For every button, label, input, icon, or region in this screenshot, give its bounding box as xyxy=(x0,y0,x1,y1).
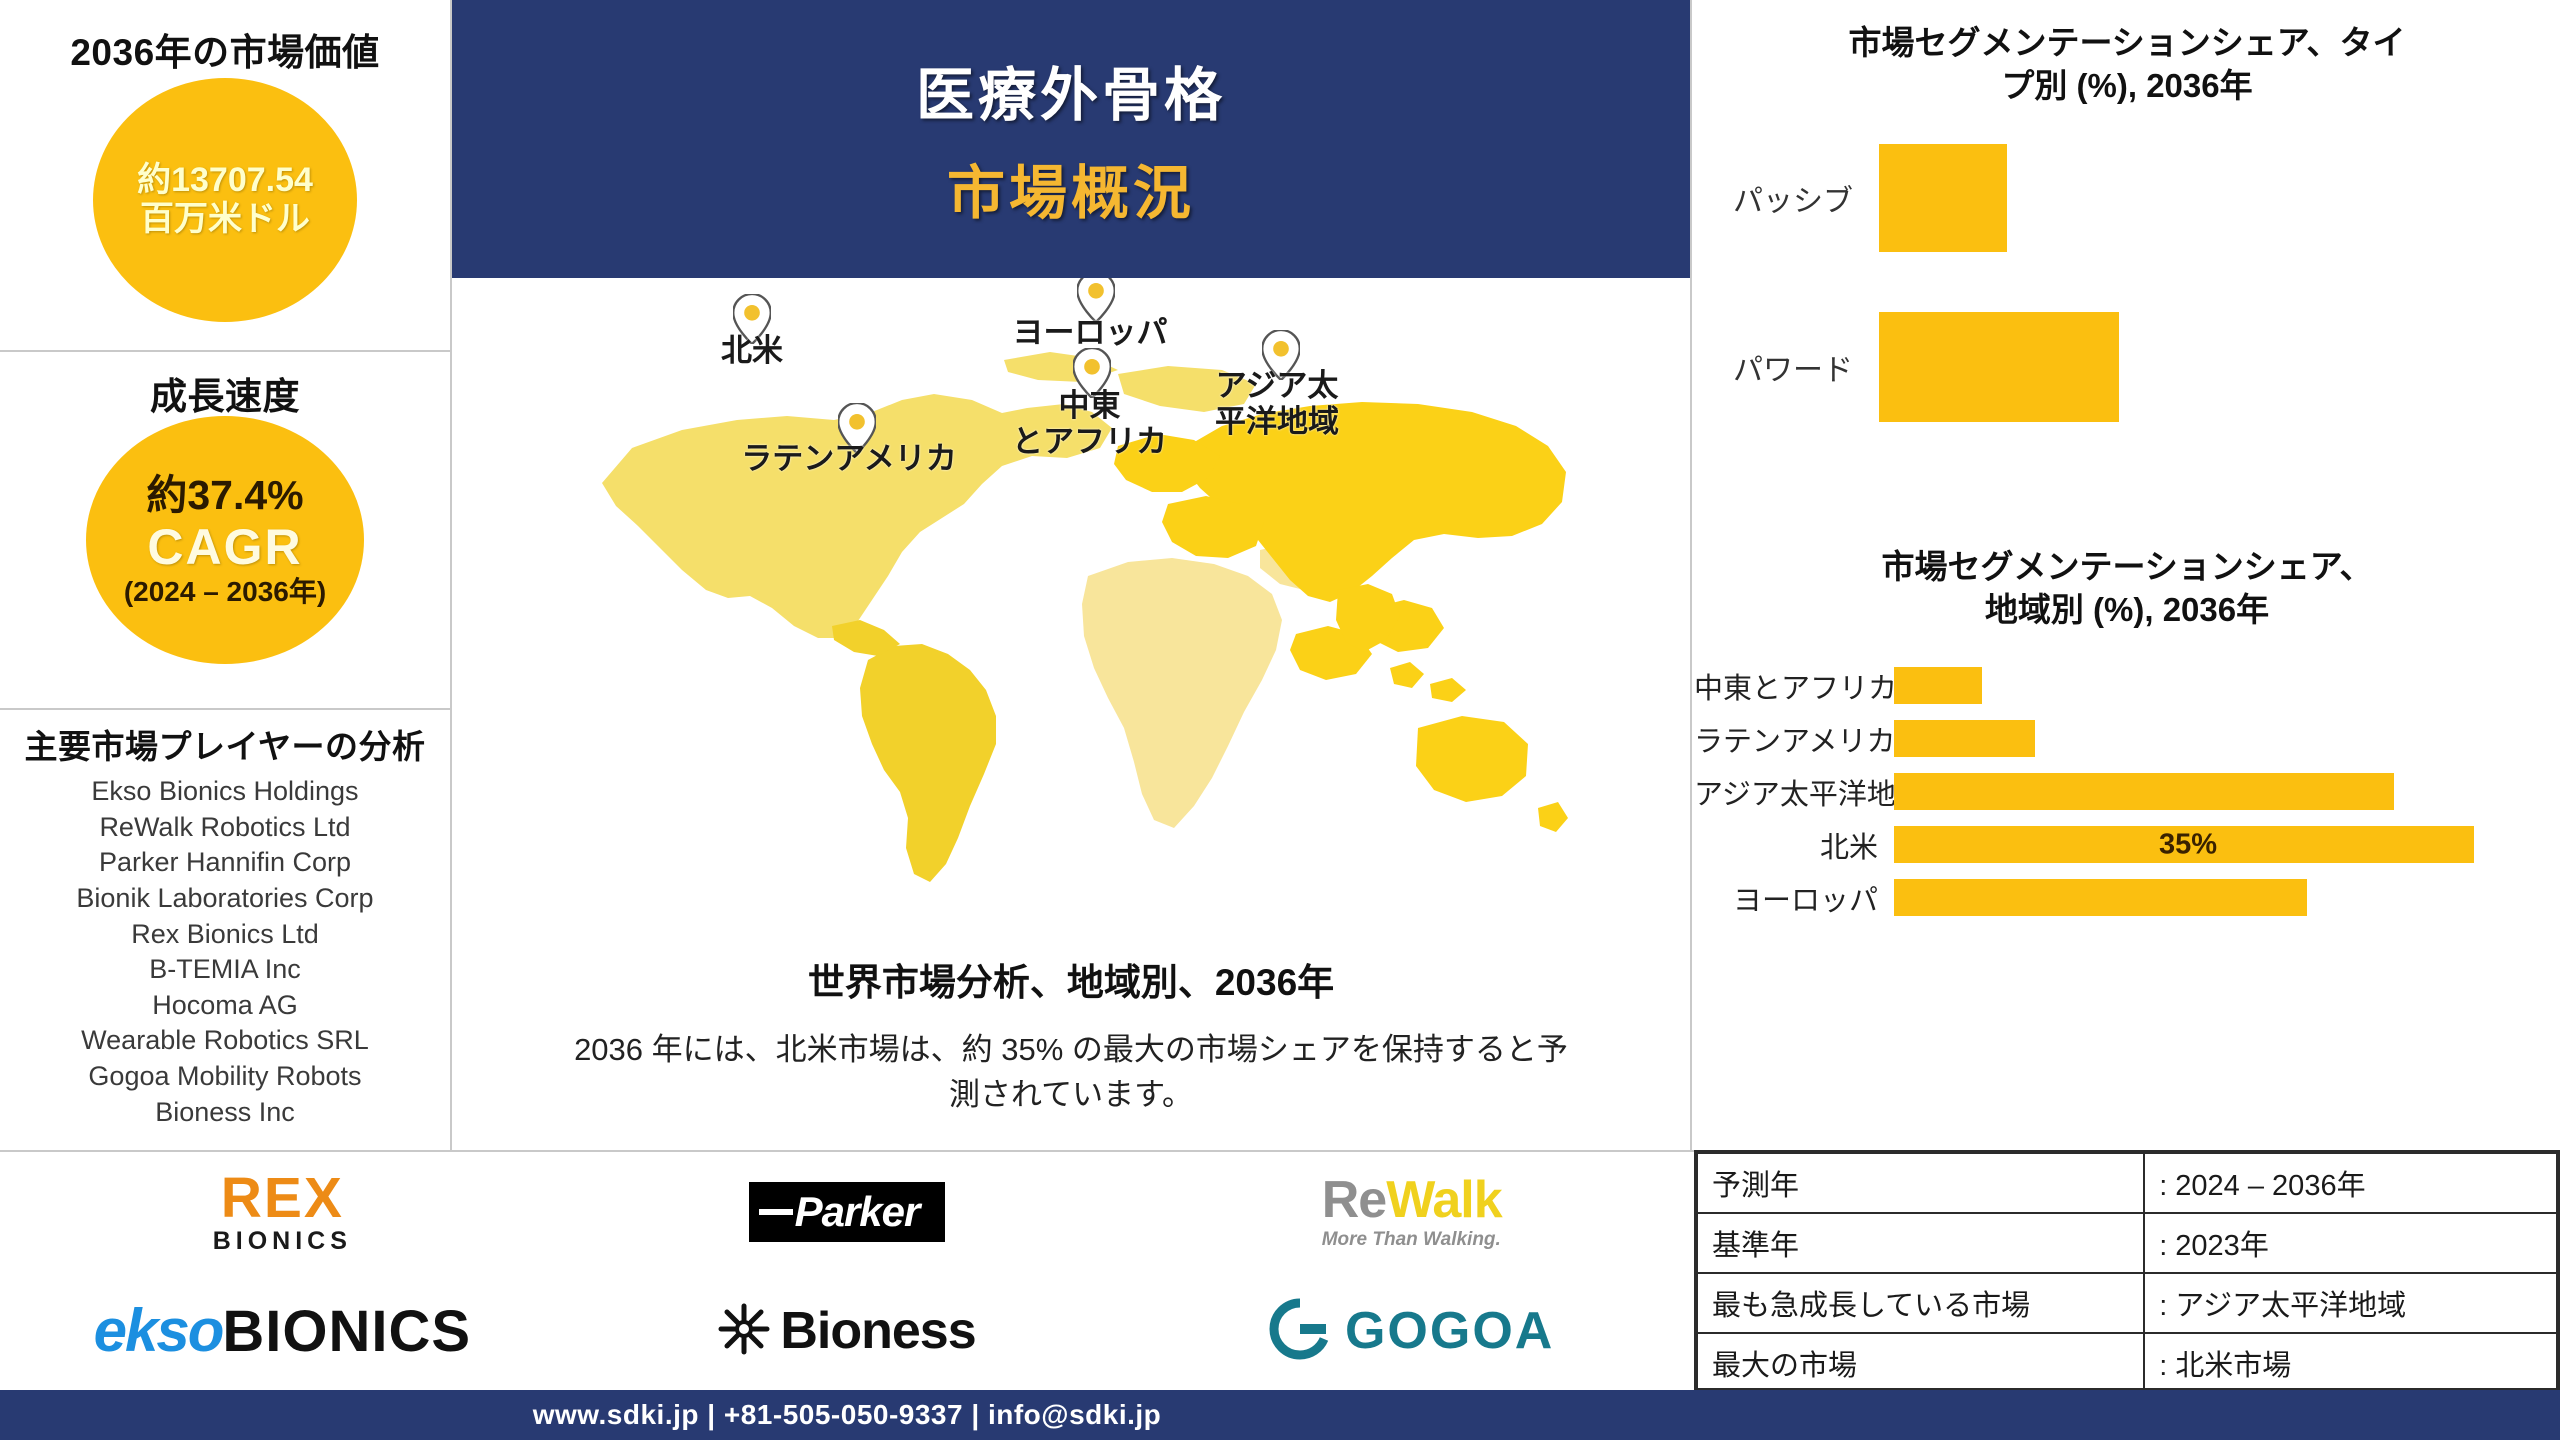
region-bar-namerica: 35% xyxy=(1894,826,2474,863)
left-sidebar: 2036年の市場価値 約13707.54 百万米ドル 成長速度 約37.4% C… xyxy=(0,0,452,1150)
chart-row: 中東とアフリカ xyxy=(1694,662,2560,710)
market-value-unit: 百万米ドル xyxy=(140,200,310,239)
key-players-list: Ekso Bionics Holdings ReWalk Robotics Lt… xyxy=(0,774,450,1130)
table-row: 最も急成長している市場 : アジア太平洋地域 xyxy=(1697,1273,2557,1333)
table-cell-key: 最も急成長している市場 xyxy=(1697,1273,2144,1333)
bioness-asterisk-icon xyxy=(718,1303,770,1359)
key-players-card: 主要市場プレイヤーの分析 Ekso Bionics Holdings ReWal… xyxy=(0,710,450,1148)
market-value-card: 2036年の市場価値 約13707.54 百万米ドル xyxy=(0,0,450,352)
bar-track xyxy=(1894,720,2560,757)
market-value-ellipse: 約13707.54 百万米ドル xyxy=(93,78,357,322)
type-label-powered: パワード xyxy=(1694,345,1879,389)
cagr-label: CAGR xyxy=(147,519,302,577)
table-cell-value: : 北米市場 xyxy=(2144,1333,2557,1393)
footer-bar-right xyxy=(1694,1390,2560,1440)
rex-logo-subtext: BIONICS xyxy=(213,1229,352,1254)
map-label-asia-pacific: アジア太 平洋地域 xyxy=(1202,368,1352,439)
rewalk-logo-walk: Walk xyxy=(1386,1171,1501,1229)
market-value-number: 約13707.54 xyxy=(137,161,313,200)
region-label-mea: 中東とアフリカ xyxy=(1694,665,1894,707)
list-item: Hocoma AG xyxy=(0,988,450,1024)
logo-gogoa: GOGOA xyxy=(1269,1298,1554,1364)
table-cell-key: 基準年 xyxy=(1697,1213,2144,1273)
list-item: Ekso Bionics Holdings xyxy=(0,774,450,810)
page-subtitle: 市場概況 xyxy=(947,146,1195,230)
type-chart-title-line1: 市場セグメンテーションシェア、タイ xyxy=(1694,0,2560,65)
title-banner: 医療外骨格 市場概況 xyxy=(452,0,1690,278)
list-item: Gogoa Mobility Robots xyxy=(0,1059,450,1095)
gogoa-logo-wordmark: GOGOA xyxy=(1345,1305,1554,1357)
partner-logos: REX BIONICS Parker ReWalk More Than Walk… xyxy=(0,1150,1694,1390)
region-chart-title-line1: 市場セグメンテーションシェア、 xyxy=(1694,546,2560,589)
table-cell-value: : 2023年 xyxy=(2144,1213,2557,1273)
table-cell-key: 最大の市場 xyxy=(1697,1333,2144,1393)
logo-rex-bionics: REX BIONICS xyxy=(213,1170,352,1254)
region-bar-latam xyxy=(1894,720,2035,757)
table-row: 予測年 : 2024 – 2036年 xyxy=(1697,1153,2557,1213)
list-item: ReWalk Robotics Ltd xyxy=(0,810,450,846)
growth-rate-ellipse: 約37.4% CAGR (2024 – 2036年) xyxy=(86,416,364,664)
type-bar-powered xyxy=(1879,312,2119,422)
chart-row: ラテンアメリカ xyxy=(1694,715,2560,763)
logo-bioness: Bioness xyxy=(718,1303,975,1359)
map-label-middle-east-africa: 中東 とアフリカ xyxy=(997,388,1182,459)
list-item: Parker Hannifin Corp xyxy=(0,845,450,881)
type-row-passive: パッシブ xyxy=(1694,144,2007,252)
bar-track xyxy=(1894,879,2560,916)
parker-dash-icon xyxy=(759,1209,793,1215)
table-cell-value: : 2024 – 2036年 xyxy=(2144,1153,2557,1213)
logo-rewalk: ReWalk More Than Walking. xyxy=(1322,1174,1502,1249)
region-label-latam: ラテンアメリカ xyxy=(1694,718,1894,760)
rex-logo-wordmark: REX xyxy=(221,1170,344,1227)
logo-parker: Parker xyxy=(749,1182,946,1242)
bioness-logo-wordmark: Bioness xyxy=(780,1305,975,1357)
type-label-passive: パッシブ xyxy=(1694,176,1879,220)
type-segmentation-chart: パッシブ パワード xyxy=(1694,126,2560,546)
market-value-title: 2036年の市場価値 xyxy=(0,0,450,76)
map-label-latin-america: ラテンアメリカ xyxy=(724,441,974,477)
map-caption-body: 2036 年には、北米市場は、約 35% の最大の市場シェアを保持すると予測され… xyxy=(452,1028,1690,1118)
map-caption: 世界市場分析、地域別、2036年 2036 年には、北米市場は、約 35% の最… xyxy=(452,952,1690,1118)
chart-row: ヨーロッパ xyxy=(1694,874,2560,922)
key-players-title: 主要市場プレイヤーの分析 xyxy=(0,710,450,768)
bar-track xyxy=(1894,667,2560,704)
growth-rate-title: 成長速度 xyxy=(0,352,450,420)
world-map: 北米 ヨーロッパ アジア太 平洋地域 中東 とアフリカ ラテンアメリカ xyxy=(452,278,1690,958)
region-bar-apac xyxy=(1894,773,2394,810)
rewalk-logo-tagline: More Than Walking. xyxy=(1322,1230,1501,1249)
list-item: B-TEMIA Inc xyxy=(0,952,450,988)
type-chart-title-line2: プ別 (%), 2036年 xyxy=(1694,65,2560,108)
summary-table: 予測年 : 2024 – 2036年 基準年 : 2023年 最も急成長している… xyxy=(1694,1150,2560,1390)
infographic-page: 2036年の市場価値 約13707.54 百万米ドル 成長速度 約37.4% C… xyxy=(0,0,2560,1440)
bar-track xyxy=(1894,773,2560,810)
map-label-north-america: 北米 xyxy=(697,333,807,369)
bar-track: 35% xyxy=(1894,826,2560,863)
footer-bar: www.sdki.jp | +81-505-050-9337 | info@sd… xyxy=(0,1390,1694,1440)
gogoa-circle-icon xyxy=(1269,1298,1331,1364)
list-item: Bioness Inc xyxy=(0,1095,450,1131)
parker-logo-wordmark: Parker xyxy=(795,1188,920,1236)
map-label-europe: ヨーロッパ xyxy=(1002,315,1178,351)
list-item: Bionik Laboratories Corp xyxy=(0,881,450,917)
chart-row: アジア太平洋地域 xyxy=(1694,768,2560,816)
growth-rate-card: 成長速度 約37.4% CAGR (2024 – 2036年) xyxy=(0,352,450,710)
footer-contact-text: www.sdki.jp | +81-505-050-9337 | info@sd… xyxy=(533,1399,1162,1431)
map-caption-title: 世界市場分析、地域別、2036年 xyxy=(452,952,1690,1006)
logo-ekso-bionics: eksoBIONICS xyxy=(94,1301,471,1361)
region-chart-title-line2: 地域別 (%), 2036年 xyxy=(1694,589,2560,632)
list-item: Rex Bionics Ltd xyxy=(0,917,450,953)
type-bar-passive xyxy=(1879,144,2007,252)
page-title: 医療外骨格 xyxy=(916,48,1226,132)
list-item: Wearable Robotics SRL xyxy=(0,1023,450,1059)
cagr-value: 約37.4% xyxy=(146,472,303,519)
table-cell-key: 予測年 xyxy=(1697,1153,2144,1213)
table-row: 基準年 : 2023年 xyxy=(1697,1213,2557,1273)
table-row: 最大の市場 : 北米市場 xyxy=(1697,1333,2557,1393)
ekso-logo-part1: ekso xyxy=(94,1301,223,1361)
region-segmentation-chart: 中東とアフリカ ラテンアメリカ アジア太平洋地域 北米 xyxy=(1694,638,2560,912)
rewalk-logo-re: Re xyxy=(1322,1171,1386,1229)
chart-row: 北米 35% xyxy=(1694,821,2560,869)
center-panel: 医療外骨格 市場概況 xyxy=(452,0,1692,1150)
region-label-namerica: 北米 xyxy=(1694,824,1894,866)
cagr-period: (2024 – 2036年) xyxy=(124,576,326,608)
region-bar-europe xyxy=(1894,879,2307,916)
region-bar-value-namerica: 35% xyxy=(2159,828,2217,861)
type-row-powered: パワード xyxy=(1694,312,2119,422)
ekso-logo-part2: BIONICS xyxy=(222,1303,471,1361)
region-label-apac: アジア太平洋地域 xyxy=(1694,771,1894,813)
region-bar-mea xyxy=(1894,667,1982,704)
table-cell-value: : アジア太平洋地域 xyxy=(2144,1273,2557,1333)
right-panel: 市場セグメンテーションシェア、タイ プ別 (%), 2036年 パッシブ パワー… xyxy=(1694,0,2560,1150)
region-label-europe: ヨーロッパ xyxy=(1694,877,1894,919)
